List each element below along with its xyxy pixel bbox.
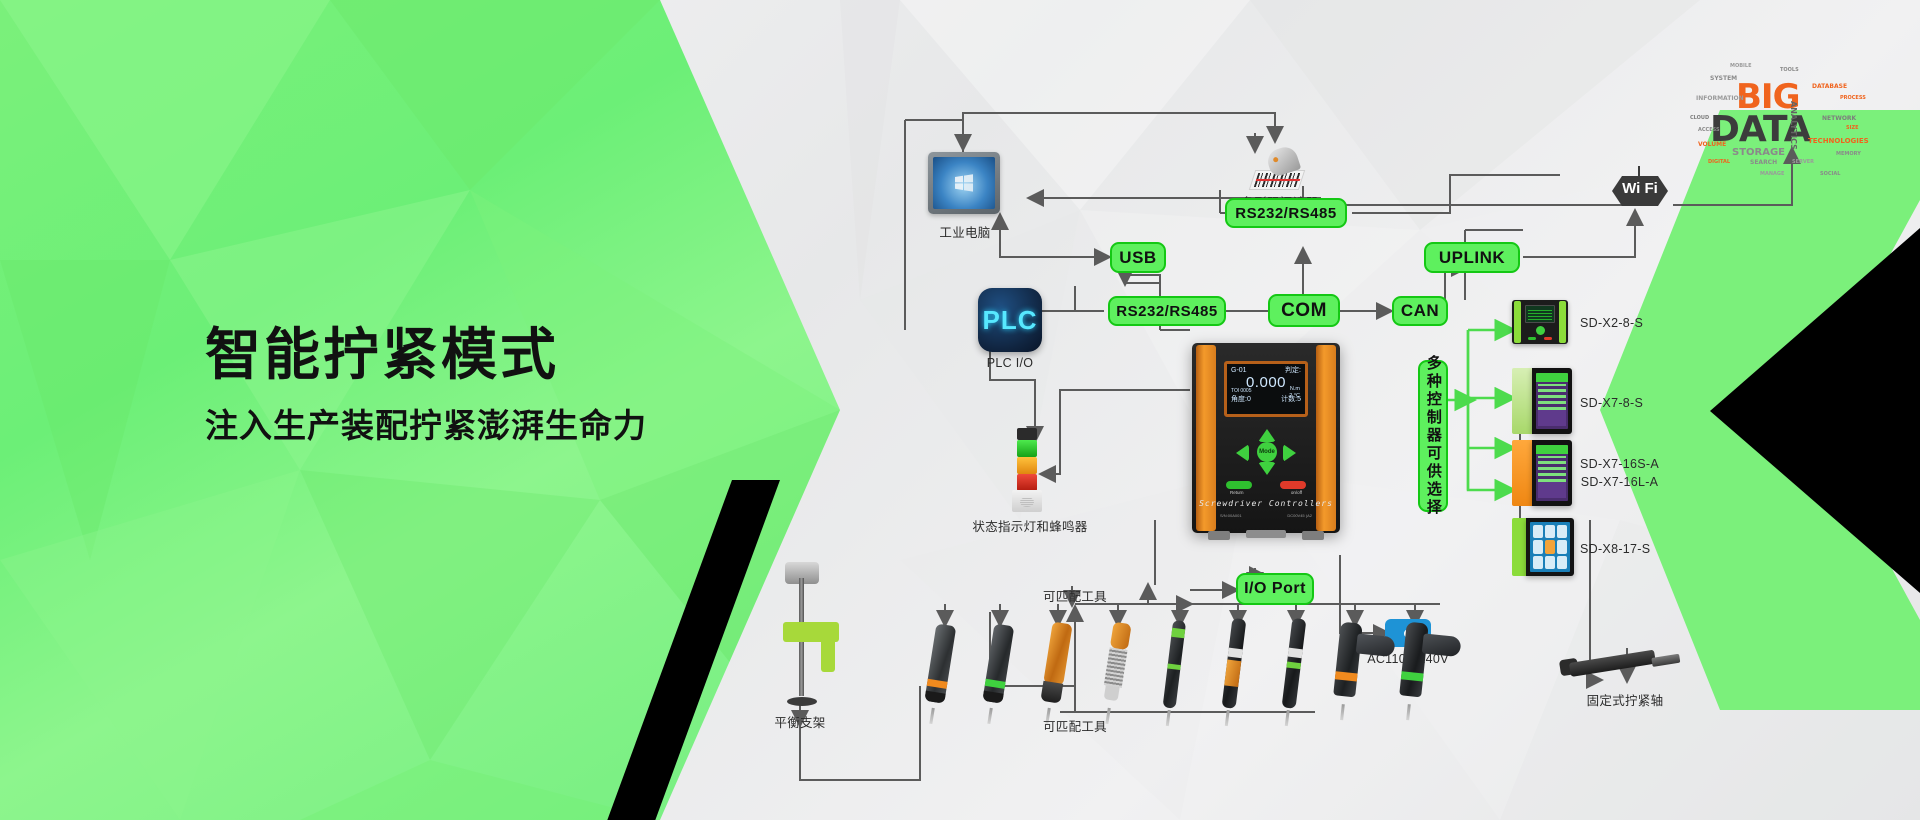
dpad-right-icon[interactable] bbox=[1283, 444, 1296, 462]
lcd-verdict-label: 判定: bbox=[1285, 367, 1301, 375]
balance-arm-foot bbox=[787, 697, 817, 706]
plc-io-icon[interactable]: PLC bbox=[978, 288, 1042, 352]
fixed-spindle-icon[interactable] bbox=[1560, 655, 1680, 685]
model1-screen bbox=[1525, 305, 1555, 323]
balance-arm-label: 平衡支架 bbox=[740, 712, 860, 731]
stack-light-green bbox=[1017, 440, 1037, 457]
controller-foot-right bbox=[1302, 531, 1324, 540]
wifi-icon[interactable]: Wi Fi bbox=[1612, 170, 1668, 210]
dpad-left-icon[interactable] bbox=[1236, 444, 1249, 462]
lcd-temp: 2 °C bbox=[1289, 393, 1300, 400]
barcode-reader-icon[interactable] bbox=[1250, 148, 1310, 190]
dpad-up-icon[interactable] bbox=[1258, 429, 1276, 442]
controller-model-3-label: SD-X7-16S-A SD-X7-16L-A bbox=[1580, 455, 1659, 491]
tool-pistol-2[interactable] bbox=[1396, 621, 1464, 711]
stack-light-amber bbox=[1017, 457, 1037, 474]
model2-screen-rows bbox=[1538, 384, 1566, 410]
port-uplink[interactable]: UPLINK bbox=[1424, 242, 1520, 273]
controller-selector-note: 多种控制器可供选择 bbox=[1418, 360, 1448, 512]
port-can[interactable]: CAN bbox=[1392, 296, 1448, 326]
model3-face bbox=[1532, 440, 1572, 506]
status-light-tower[interactable] bbox=[1012, 428, 1042, 512]
tool-pistol-1[interactable] bbox=[1330, 621, 1398, 711]
headline-block: 智能拧紧模式 注入生产装配拧紧澎湃生命力 bbox=[205, 325, 825, 447]
banner-stage: 智能拧紧模式 注入生产装配拧紧澎湃生命力 bbox=[0, 0, 1920, 820]
model3-screen-header bbox=[1536, 445, 1568, 454]
model4-face bbox=[1526, 518, 1574, 576]
fixed-spindle-label: 固定式拧紧轴 bbox=[1560, 690, 1690, 709]
page-title: 智能拧紧模式 bbox=[205, 325, 825, 387]
matching-tools-top-label: 可匹配工具 bbox=[1010, 586, 1140, 605]
lcd-unit: N.m bbox=[1289, 386, 1300, 393]
plc-io-label: PLC I/O bbox=[960, 356, 1060, 370]
windows-logo-icon bbox=[954, 173, 974, 193]
page-subtitle: 注入生产装配拧紧澎湃生命力 bbox=[205, 399, 825, 447]
model2-side-panel bbox=[1512, 368, 1534, 434]
model1-dpad-icon bbox=[1536, 326, 1545, 335]
stack-light-buzzer-base bbox=[1012, 490, 1042, 512]
model4-screen bbox=[1530, 522, 1570, 572]
port-usb[interactable]: USB bbox=[1110, 242, 1166, 273]
model3-screen-block bbox=[1538, 482, 1566, 498]
model1-edge-left bbox=[1514, 301, 1521, 343]
controller-power-button[interactable] bbox=[1280, 481, 1306, 489]
main-screwdriver-controller[interactable]: G-01 判定: 0.000 N.m 2 °C TOl 0005 角度:0 计数… bbox=[1192, 343, 1340, 533]
model1-green-button bbox=[1528, 337, 1536, 340]
controller-brand: Screwdriver Controllers bbox=[1192, 499, 1340, 508]
port-rs232-top[interactable]: RS232/RS485 bbox=[1225, 198, 1347, 228]
controller-dpad[interactable]: Mode bbox=[1236, 429, 1296, 475]
stack-light-red bbox=[1017, 474, 1037, 491]
status-light-label: 状态指示灯和蜂鸣器 bbox=[950, 516, 1110, 535]
port-io[interactable]: I/O Port bbox=[1236, 573, 1314, 605]
controller-return-label: Return bbox=[1230, 490, 1244, 495]
model2-face bbox=[1532, 368, 1572, 434]
dpad-down-icon[interactable] bbox=[1258, 462, 1276, 475]
controller-model-1[interactable] bbox=[1512, 300, 1568, 344]
spindle-nose bbox=[1651, 654, 1680, 667]
model2-screen-header bbox=[1536, 373, 1568, 382]
model2-screen bbox=[1536, 373, 1568, 429]
stack-light-cap bbox=[1017, 428, 1037, 440]
controller-foot-left bbox=[1208, 531, 1230, 540]
port-rs232-left[interactable]: RS232/RS485 bbox=[1108, 296, 1226, 326]
industrial-pc-label: 工业电脑 bbox=[890, 222, 1040, 241]
lcd-group: G-01 bbox=[1231, 367, 1247, 375]
port-com[interactable]: COM bbox=[1268, 294, 1340, 327]
model3-screen-rows bbox=[1538, 456, 1566, 482]
dpad-mode-button[interactable]: Mode bbox=[1257, 442, 1277, 462]
controller-model-4-label: SD-X8-17-S bbox=[1580, 542, 1650, 556]
model1-edge-right bbox=[1559, 301, 1566, 343]
model2-screen-block bbox=[1538, 410, 1566, 426]
big-data-word-cloud: BIG DATA ANALYTICS STORAGE TECHNOLOGIES … bbox=[1690, 55, 1895, 195]
lcd-angle: 角度:0 bbox=[1231, 396, 1251, 404]
controller-power-label: on/off bbox=[1291, 490, 1302, 495]
controller-sn-left: S/N:00A001 bbox=[1220, 513, 1242, 518]
balance-arm-icon[interactable] bbox=[755, 556, 847, 706]
controller-model-2[interactable] bbox=[1512, 368, 1572, 434]
model3-side-panel bbox=[1512, 440, 1534, 506]
controller-model-1-label: SD-X2-8-S bbox=[1580, 316, 1643, 330]
controller-return-button[interactable] bbox=[1226, 481, 1252, 489]
plc-icon-text: PLC bbox=[983, 305, 1038, 336]
balance-arm-hook bbox=[821, 630, 835, 672]
industrial-pc-screen bbox=[933, 157, 995, 209]
controller-model-3[interactable] bbox=[1512, 440, 1572, 506]
barcode-laser-line bbox=[1256, 179, 1301, 181]
controller-model-2-label: SD-X7-8-S bbox=[1580, 396, 1643, 410]
controller-sn-right: DC00V45 (A2 bbox=[1287, 513, 1312, 518]
model3-screen bbox=[1536, 445, 1568, 501]
industrial-pc[interactable] bbox=[928, 152, 1000, 214]
model1-red-button bbox=[1544, 337, 1552, 340]
controller-model-4[interactable] bbox=[1512, 518, 1574, 576]
controller-db-port bbox=[1246, 530, 1286, 538]
matching-tools-bottom-label: 可匹配工具 bbox=[1010, 716, 1140, 735]
controller-lcd: G-01 判定: 0.000 N.m 2 °C TOl 0005 角度:0 计数… bbox=[1224, 361, 1308, 417]
wifi-label: Wi Fi bbox=[1612, 180, 1668, 197]
